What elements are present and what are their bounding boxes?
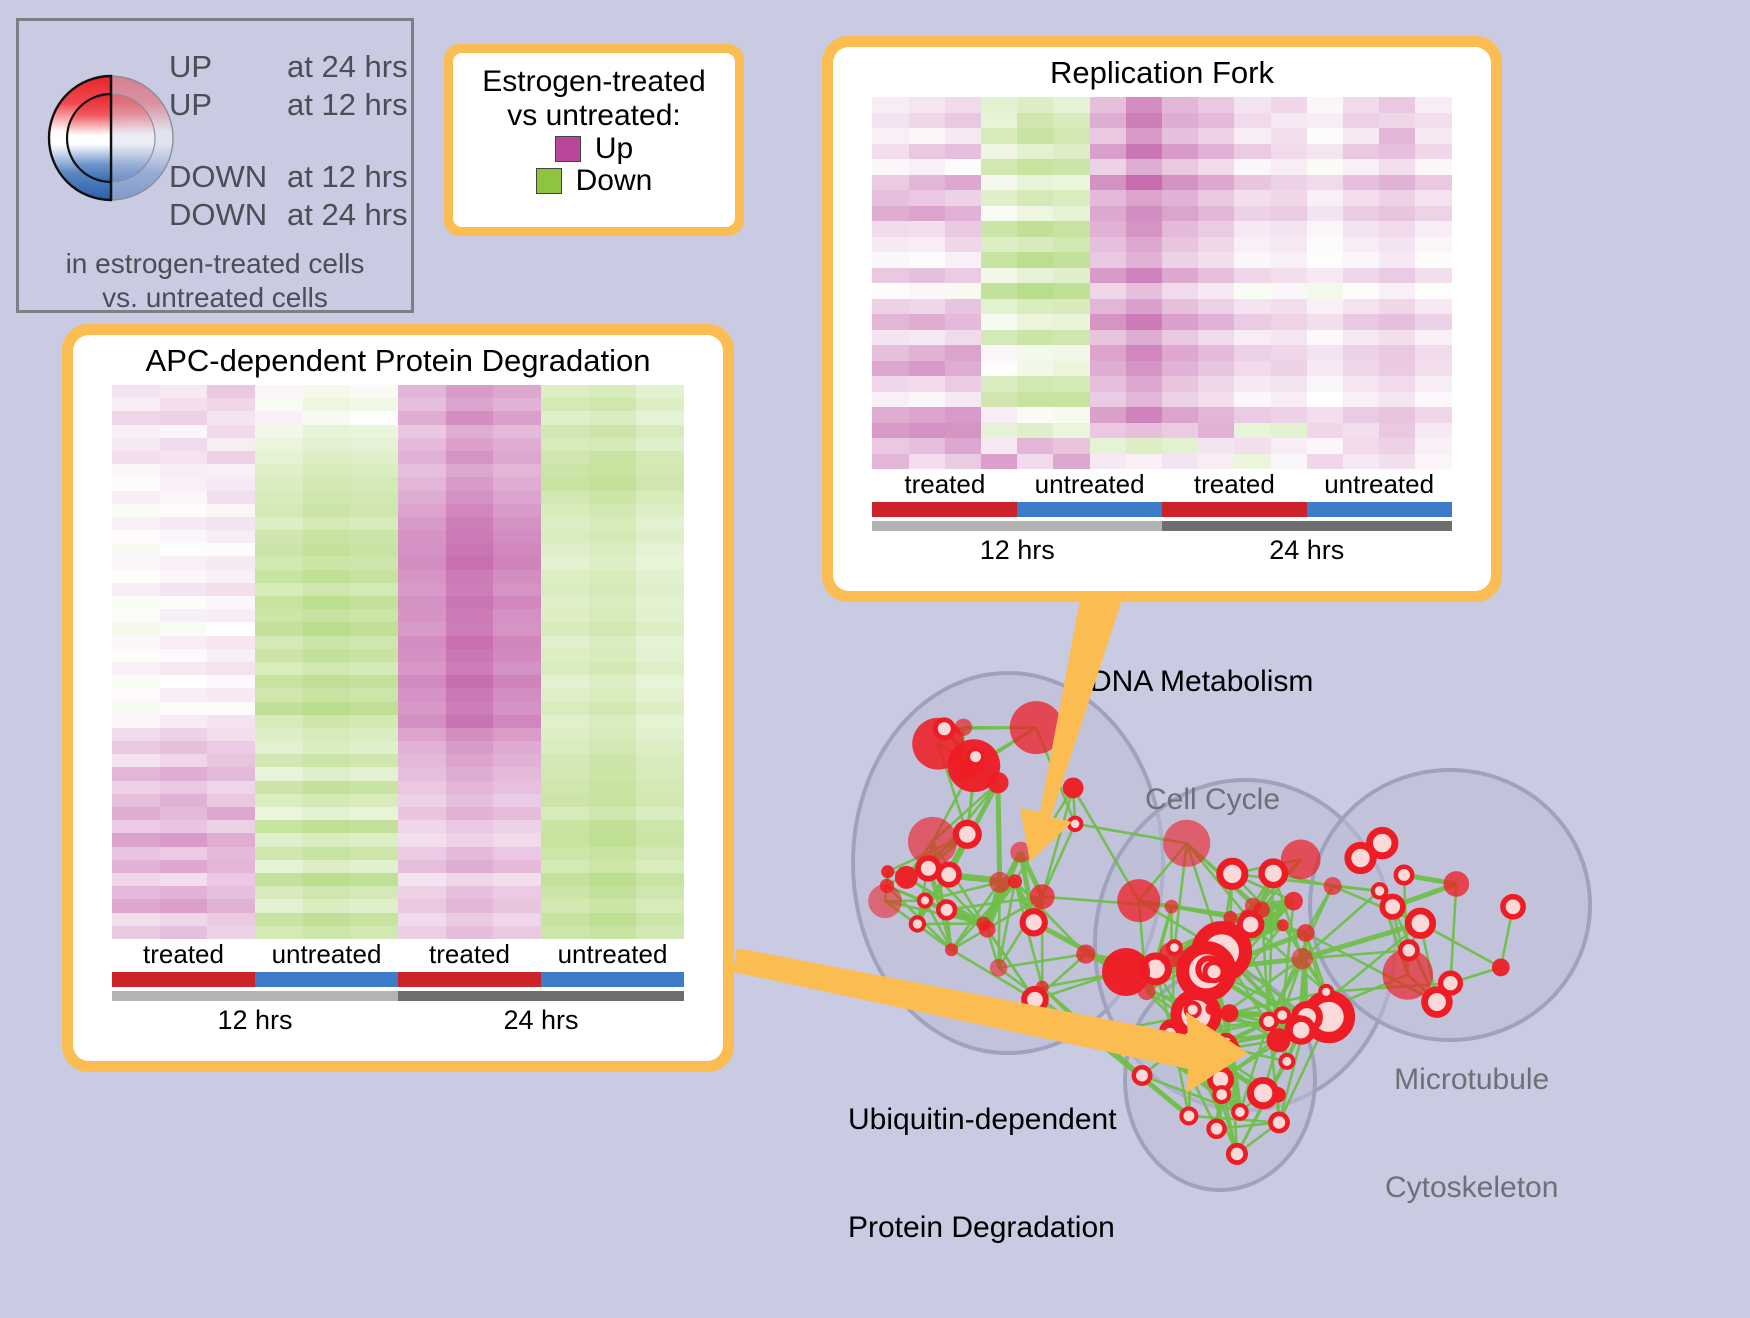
- heatmap-cell: [1126, 237, 1162, 253]
- heatmap-cell: [207, 899, 255, 912]
- heatmap-cell: [589, 899, 637, 912]
- heatmap-cell: [945, 407, 981, 423]
- heatmap-cell: [398, 741, 446, 754]
- heatmap-cell: [541, 675, 589, 688]
- heatmap-cell: [1198, 128, 1234, 144]
- heatmap-cell: [1053, 361, 1089, 377]
- heatmap-cell: [350, 451, 398, 464]
- heatmap-cell: [350, 517, 398, 530]
- heatmap-cell: [636, 767, 684, 780]
- heatmap-cell: [1053, 299, 1089, 315]
- heatmap-cell: [446, 820, 494, 833]
- heatmap-cell: [1343, 330, 1379, 346]
- panel-replication-fork: Replication Fork treated untreated treat…: [822, 36, 1502, 602]
- heatmap-cell: [160, 543, 208, 556]
- heatmap-cell: [446, 477, 494, 490]
- heatmap-cell: [541, 899, 589, 912]
- heatmap-cell: [1307, 190, 1343, 206]
- heatmap-cell: [981, 113, 1017, 129]
- heatmap-cell: [636, 860, 684, 873]
- heatmap-cell: [493, 477, 541, 490]
- heatmap-cell: [1379, 237, 1415, 253]
- heatmap-cell: [207, 702, 255, 715]
- heatmap-cell: [589, 425, 637, 438]
- network-node: [1444, 871, 1470, 897]
- heatmap-cell: [446, 398, 494, 411]
- heatmap-cell: [493, 438, 541, 451]
- heatmap-cell: [1379, 376, 1415, 392]
- heatmap-cell: [207, 609, 255, 622]
- heatmap-cell: [589, 491, 637, 504]
- heatmap-cell: [945, 175, 981, 191]
- network-node: [955, 719, 972, 736]
- heatmap-cell: [446, 781, 494, 794]
- heatmap-cell: [872, 454, 908, 470]
- heatmap-cell: [207, 715, 255, 728]
- heatmap-cell: [160, 913, 208, 926]
- heatmap-cell: [1415, 252, 1451, 268]
- heatmap-cell: [207, 385, 255, 398]
- heatmap-cell: [303, 398, 351, 411]
- heatmap-cell: [398, 899, 446, 912]
- heatmap-cell: [160, 622, 208, 635]
- network-node: [1370, 830, 1395, 855]
- heatmap-cell: [589, 754, 637, 767]
- heatmap-cell: [1126, 252, 1162, 268]
- heatmap-cell: [493, 411, 541, 424]
- heatmap-cell: [541, 438, 589, 451]
- panel-title: APC-dependent Protein Degradation: [146, 343, 651, 379]
- heatmap-cell: [446, 517, 494, 530]
- legend-item-up: Up: [555, 134, 633, 164]
- heatmap-cell: [255, 570, 303, 583]
- heatmap-cell: [160, 438, 208, 451]
- heatmap-cell: [1017, 438, 1053, 454]
- heatmap-cell: [112, 411, 160, 424]
- heatmap-cell: [303, 860, 351, 873]
- heatmap-cell: [1090, 128, 1126, 144]
- heatmap-cell: [160, 767, 208, 780]
- heatmap-cell: [981, 206, 1017, 222]
- heatmap-cell: [1379, 361, 1415, 377]
- network-node: [1277, 919, 1289, 931]
- heatmap-cell: [493, 754, 541, 767]
- heatmap-cell: [1053, 252, 1089, 268]
- heatmap-cell: [981, 423, 1017, 439]
- heatmap-cell: [1198, 113, 1234, 129]
- heatmap-cell: [1415, 206, 1451, 222]
- heatmap-cell: [207, 583, 255, 596]
- network-node: [881, 865, 894, 878]
- heatmap-cell: [112, 754, 160, 767]
- heatmap-cell: [1379, 144, 1415, 160]
- heatmap-cell: [1053, 392, 1089, 408]
- network-node: [1205, 1003, 1217, 1015]
- heatmap-cell: [1415, 190, 1451, 206]
- heatmap-cell: [255, 767, 303, 780]
- heatmap-cell: [255, 662, 303, 675]
- network-node: [1010, 842, 1031, 863]
- network-node: [1030, 884, 1055, 909]
- heatmap-cell: [909, 423, 945, 439]
- heatmap-cell: [255, 860, 303, 873]
- heatmap-cell: [446, 754, 494, 767]
- heatmap-cell: [1415, 97, 1451, 113]
- heatmap-cell: [945, 283, 981, 299]
- heatmap-cell: [350, 820, 398, 833]
- network-node: [987, 772, 1008, 793]
- heatmap-cell: [303, 886, 351, 899]
- heatmap-cell: [207, 728, 255, 741]
- heatmap-cell: [350, 411, 398, 424]
- heatmap-cell: [303, 451, 351, 464]
- network-node: [990, 959, 1008, 977]
- heatmap-cell: [112, 425, 160, 438]
- color-key-circles: [47, 43, 175, 233]
- heatmap-cell: [255, 636, 303, 649]
- heatmap-cell: [160, 556, 208, 569]
- heatmap-cell: [589, 820, 637, 833]
- heatmap-cell: [398, 438, 446, 451]
- heatmap-cell: [1017, 407, 1053, 423]
- heatmap-cell: [207, 754, 255, 767]
- heatmap-cell: [160, 886, 208, 899]
- heatmap-cell: [398, 754, 446, 767]
- heatmap-cell: [1017, 144, 1053, 160]
- heatmap-cell: [541, 451, 589, 464]
- heatmap-cell: [541, 425, 589, 438]
- heatmap-cell: [207, 530, 255, 543]
- heatmap-cell: [1162, 283, 1198, 299]
- heatmap-cell: [350, 662, 398, 675]
- network-node: [938, 901, 955, 918]
- heatmap-cell: [112, 622, 160, 635]
- heatmap-cell: [1343, 392, 1379, 408]
- heatmap-cell: [636, 728, 684, 741]
- heatmap-cell: [636, 688, 684, 701]
- heatmap-cell: [207, 649, 255, 662]
- heatmap-cell: [207, 570, 255, 583]
- heatmap-cell: [1053, 221, 1089, 237]
- heatmap-cell: [1379, 175, 1415, 191]
- heatmap-cell: [1343, 454, 1379, 470]
- heatmap-cell: [1415, 407, 1451, 423]
- heatmap-cell: [112, 728, 160, 741]
- heatmap-cell: [446, 675, 494, 688]
- color-bar-segment: [872, 521, 1162, 531]
- heatmap-cell: [1271, 113, 1307, 129]
- heatmap-cell: [160, 833, 208, 846]
- heatmap-cell: [493, 398, 541, 411]
- heatmap-cell: [398, 728, 446, 741]
- heatmap-cell: [589, 767, 637, 780]
- heatmap-cell: [1343, 268, 1379, 284]
- figure-canvas: UP at 24 hrs UP at 12 hrs DOWN at 12 hrs…: [0, 0, 1750, 1279]
- heatmap-cell: [636, 715, 684, 728]
- heatmap-cell: [303, 636, 351, 649]
- heatmap-cell: [1271, 237, 1307, 253]
- heatmap-cell: [398, 491, 446, 504]
- network-node: [968, 749, 983, 764]
- heatmap-axis: treated untreated treated untreated 12 h…: [112, 939, 684, 1036]
- heatmap-cell: [446, 873, 494, 886]
- color-bar-segment: [255, 972, 398, 987]
- heatmap-cell: [207, 926, 255, 939]
- color-bar-segment: [1307, 502, 1452, 517]
- heatmap-cell: [589, 715, 637, 728]
- network-node: [1228, 1145, 1245, 1162]
- heatmap-cell: [541, 873, 589, 886]
- heatmap-cell: [981, 268, 1017, 284]
- heatmap-cell: [589, 609, 637, 622]
- heatmap-cell: [636, 385, 684, 398]
- heatmap-cell: [160, 754, 208, 767]
- heatmap-cell: [398, 556, 446, 569]
- color-bar-segment: [398, 972, 541, 987]
- heatmap-cell: [1090, 299, 1126, 315]
- heatmap-cell: [112, 675, 160, 688]
- heatmap-cell: [1343, 237, 1379, 253]
- heatmap-cell: [1198, 268, 1234, 284]
- heatmap-cell: [398, 530, 446, 543]
- heatmap-cell: [350, 543, 398, 556]
- heatmap-cell: [1271, 97, 1307, 113]
- heatmap-cell: [1090, 237, 1126, 253]
- heatmap-cell: [541, 556, 589, 569]
- heatmap-cell: [945, 361, 981, 377]
- heatmap-cell: [945, 237, 981, 253]
- network-node: [1233, 1105, 1247, 1119]
- heatmap-cell: [1017, 97, 1053, 113]
- heatmap-cell: [1307, 252, 1343, 268]
- heatmap-cell: [446, 411, 494, 424]
- heatmap-cell: [446, 728, 494, 741]
- heatmap-cell: [541, 807, 589, 820]
- network-node: [1165, 900, 1179, 914]
- heatmap-cell: [446, 767, 494, 780]
- network-node: [1181, 1108, 1196, 1123]
- heatmap-cell: [303, 728, 351, 741]
- heatmap-cell: [1017, 128, 1053, 144]
- heatmap-cell: [1126, 361, 1162, 377]
- color-bar-segment: [541, 972, 684, 987]
- heatmap-cell: [1379, 423, 1415, 439]
- heatmap-cell: [207, 636, 255, 649]
- heatmap-cell: [636, 754, 684, 767]
- heatmap-cell: [981, 221, 1017, 237]
- heatmap-cell: [1343, 423, 1379, 439]
- network-node: [1069, 818, 1081, 830]
- heatmap-cell: [303, 438, 351, 451]
- heatmap-cell: [255, 477, 303, 490]
- heatmap-cell: [112, 649, 160, 662]
- color-bar-segment: [1162, 521, 1452, 531]
- heatmap-cell: [1415, 268, 1451, 284]
- heatmap-cell: [1234, 423, 1270, 439]
- heatmap-cell: [398, 860, 446, 873]
- heatmap-cell: [255, 464, 303, 477]
- heatmap-cell: [160, 583, 208, 596]
- heatmap-cell: [636, 596, 684, 609]
- heatmap-cell: [1090, 144, 1126, 160]
- heatmap-cell: [255, 688, 303, 701]
- network-node: [1408, 911, 1433, 936]
- heatmap-cell: [350, 636, 398, 649]
- heatmap-cell: [255, 451, 303, 464]
- heatmap-cell: [872, 314, 908, 330]
- heatmap-cell: [1343, 159, 1379, 175]
- heatmap-cell: [636, 702, 684, 715]
- heatmap-cell: [1017, 190, 1053, 206]
- heatmap-cell: [1017, 283, 1053, 299]
- heatmap-cell: [398, 662, 446, 675]
- heatmap-cell: [589, 411, 637, 424]
- heatmap-cell: [1234, 144, 1270, 160]
- heatmap-cell: [398, 570, 446, 583]
- heatmap-cell: [981, 237, 1017, 253]
- heatmap-cell: [1053, 438, 1089, 454]
- heatmap-cell: [541, 517, 589, 530]
- timepoint-label: 24 hrs: [398, 1005, 684, 1036]
- heatmap-cell: [1126, 206, 1162, 222]
- heatmap-cell: [981, 314, 1017, 330]
- heatmap-cell: [1343, 376, 1379, 392]
- heatmap-cell: [1343, 361, 1379, 377]
- heatmap-cell: [1307, 159, 1343, 175]
- heatmap-cell: [909, 144, 945, 160]
- network-node: [1240, 914, 1262, 936]
- heatmap-cell: [398, 926, 446, 939]
- heatmap-cell: [112, 781, 160, 794]
- heatmap-cell: [541, 596, 589, 609]
- heatmap-cell: [1053, 283, 1089, 299]
- heatmap-cell: [909, 190, 945, 206]
- heatmap-cell: [398, 702, 446, 715]
- heatmap-cell: [160, 398, 208, 411]
- heatmap-cell: [255, 398, 303, 411]
- heatmap-cell: [1234, 268, 1270, 284]
- heatmap-cell: [1307, 407, 1343, 423]
- heatmap-cell: [1162, 97, 1198, 113]
- heatmap-cell: [1234, 407, 1270, 423]
- heatmap-cell: [589, 570, 637, 583]
- network-node: [1280, 1055, 1293, 1068]
- heatmap-cell: [1126, 283, 1162, 299]
- heatmap-cell: [589, 636, 637, 649]
- network-node: [1183, 1030, 1198, 1045]
- heatmap-cell: [112, 873, 160, 886]
- network-node: [918, 858, 939, 879]
- network-node: [945, 943, 958, 956]
- heatmap-cell: [1415, 175, 1451, 191]
- heatmap-cell: [981, 144, 1017, 160]
- heatmap-cell: [350, 715, 398, 728]
- heatmap-cell: [1162, 299, 1198, 315]
- heatmap-cell: [1090, 407, 1126, 423]
- heatmap-cell: [446, 715, 494, 728]
- heatmap-cell: [398, 451, 446, 464]
- color-key-footer: in estrogen-treated cells vs. untreated …: [19, 247, 411, 315]
- heatmap-cell: [1126, 144, 1162, 160]
- network-node: [935, 720, 953, 738]
- heatmap-cell: [636, 425, 684, 438]
- heatmap-cell: [1234, 438, 1270, 454]
- network-node: [911, 917, 924, 930]
- heatmap-cell: [1234, 159, 1270, 175]
- heatmap-cell: [303, 530, 351, 543]
- heatmap-cell: [909, 454, 945, 470]
- heatmap-cell: [350, 675, 398, 688]
- heatmap-cell: [493, 425, 541, 438]
- color-key-direction: DOWN: [169, 197, 287, 233]
- heatmap-cell: [1415, 299, 1451, 315]
- heatmap-cell: [1162, 113, 1198, 129]
- heatmap-cell: [207, 398, 255, 411]
- heatmap-cell: [350, 899, 398, 912]
- heatmap-cell: [350, 794, 398, 807]
- heatmap-cell: [1017, 268, 1053, 284]
- heatmap-cell: [1017, 330, 1053, 346]
- heatmap-cell: [945, 97, 981, 113]
- heatmap-cell: [112, 596, 160, 609]
- heatmap-cell: [303, 767, 351, 780]
- heatmap-cell: [636, 675, 684, 688]
- heatmap-cell: [112, 477, 160, 490]
- heatmap-cell: [1234, 376, 1270, 392]
- timepoint-label: 12 hrs: [872, 535, 1162, 566]
- heatmap-cell: [112, 820, 160, 833]
- heatmap-cell: [350, 622, 398, 635]
- heatmap-cell: [1053, 175, 1089, 191]
- heatmap-cell: [872, 175, 908, 191]
- heatmap-cell: [1162, 237, 1198, 253]
- heatmap-cell: [207, 807, 255, 820]
- heatmap-cell: [350, 847, 398, 860]
- heatmap-cell: [493, 767, 541, 780]
- heatmap-cell: [589, 451, 637, 464]
- heatmap-cell: [398, 596, 446, 609]
- heatmap-cell: [589, 781, 637, 794]
- network-node: [1163, 820, 1210, 867]
- heatmap-cell: [303, 491, 351, 504]
- heatmap-cell: [303, 807, 351, 820]
- heatmap-cell: [1307, 283, 1343, 299]
- heatmap-cell: [541, 833, 589, 846]
- heatmap-cell: [589, 583, 637, 596]
- network-node: [1290, 1019, 1313, 1042]
- heatmap-cell: [350, 570, 398, 583]
- heatmap-cell: [255, 530, 303, 543]
- heatmap-cell: [1234, 361, 1270, 377]
- heatmap-cell: [981, 392, 1017, 408]
- heatmap-cell: [112, 913, 160, 926]
- heatmap-cell: [446, 556, 494, 569]
- heatmap-cell: [1162, 206, 1198, 222]
- heatmap-cell: [446, 451, 494, 464]
- heatmap-cell: [589, 398, 637, 411]
- heatmap-cell: [446, 899, 494, 912]
- heatmap-cell: [207, 438, 255, 451]
- heatmap-cell: [872, 128, 908, 144]
- heatmap-cell: [1053, 237, 1089, 253]
- cluster-label-line2: Cytoskeleton: [1385, 1170, 1558, 1206]
- heatmap-cell: [589, 688, 637, 701]
- heatmap-cell: [303, 425, 351, 438]
- heatmap-cell: [1271, 345, 1307, 361]
- network-node: [1024, 989, 1046, 1011]
- heatmap-cell: [446, 649, 494, 662]
- heatmap-cell: [1234, 206, 1270, 222]
